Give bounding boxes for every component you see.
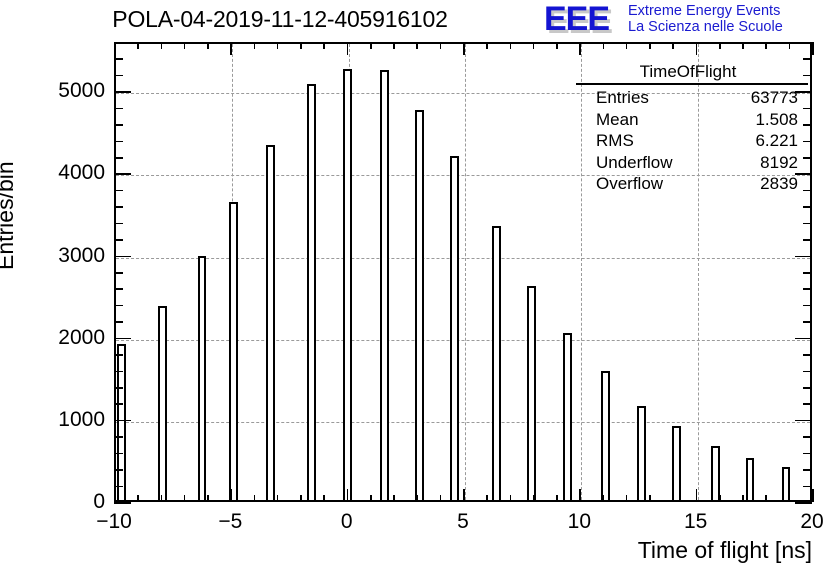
y-axis-minor-tick-right xyxy=(803,206,812,208)
gridline-vertical xyxy=(465,44,466,500)
x-axis-minor-tick-top xyxy=(510,42,512,49)
x-axis-major-tick-top xyxy=(696,42,698,55)
x-axis-minor-tick xyxy=(765,495,767,502)
x-axis-minor-tick-top xyxy=(184,42,186,49)
y-axis-major-tick xyxy=(114,173,131,175)
eee-logo-line2: La Scienza nelle Scuole xyxy=(628,20,783,35)
y-axis-major-tick-right xyxy=(795,420,812,422)
y-axis-title: Entries/bin xyxy=(0,161,19,270)
x-axis-major-tick xyxy=(230,489,232,502)
gridline-horizontal xyxy=(116,340,810,341)
stats-row-value: 63773 xyxy=(751,87,798,109)
y-axis-minor-tick xyxy=(114,124,123,126)
x-axis-minor-tick-top xyxy=(440,42,442,49)
y-axis-minor-tick xyxy=(114,272,123,274)
y-axis-minor-tick-right xyxy=(803,42,812,44)
y-axis-minor-tick-right xyxy=(803,354,812,356)
x-axis-major-tick xyxy=(579,489,581,502)
x-axis-minor-tick xyxy=(137,495,139,502)
histogram-bar xyxy=(746,458,755,500)
x-axis-minor-tick xyxy=(789,495,791,502)
x-axis-minor-tick-top xyxy=(393,42,395,49)
x-axis-minor-tick xyxy=(533,495,535,502)
histogram-bar xyxy=(672,426,681,500)
y-axis-tick-label: 3000 xyxy=(34,244,105,268)
x-axis-minor-tick-top xyxy=(254,42,256,49)
x-axis-minor-tick xyxy=(254,495,256,502)
x-axis-minor-tick-top xyxy=(300,42,302,49)
x-axis-tick-label: 5 xyxy=(457,510,469,534)
x-axis-major-tick xyxy=(114,489,116,502)
y-axis-major-tick-right xyxy=(795,256,812,258)
x-axis-minor-tick-top xyxy=(649,42,651,49)
y-axis-minor-tick xyxy=(114,141,123,143)
x-axis-minor-tick-top xyxy=(416,42,418,49)
y-axis-major-tick xyxy=(114,502,131,504)
y-axis-minor-tick-right xyxy=(803,371,812,373)
x-axis-tick-label: 20 xyxy=(800,510,823,534)
y-axis-minor-tick-right xyxy=(803,239,812,241)
y-axis-minor-tick xyxy=(114,42,123,44)
eee-logo: EEE Extreme Energy Events La Scienza nel… xyxy=(544,4,834,38)
y-axis-minor-tick xyxy=(114,288,123,290)
y-axis-minor-tick xyxy=(114,453,123,455)
x-axis-minor-tick-top xyxy=(533,42,535,49)
y-axis-minor-tick xyxy=(114,469,123,471)
x-axis-minor-tick xyxy=(556,495,558,502)
y-axis-tick-label: 2000 xyxy=(34,326,105,350)
x-axis-minor-tick-top xyxy=(486,42,488,49)
histogram-bar xyxy=(198,256,207,500)
x-axis-minor-tick-top xyxy=(789,42,791,49)
stats-row-value: 1.508 xyxy=(755,109,798,131)
x-axis-major-tick-top xyxy=(347,42,349,55)
x-axis-minor-tick xyxy=(393,495,395,502)
y-axis-minor-tick-right xyxy=(803,223,812,225)
x-axis-minor-tick xyxy=(510,495,512,502)
x-axis-minor-tick-top xyxy=(323,42,325,49)
stats-row: RMS6.221 xyxy=(576,130,808,152)
x-axis-tick-label: 10 xyxy=(568,510,591,534)
y-axis-minor-tick-right xyxy=(803,58,812,60)
x-axis-minor-tick-top xyxy=(603,42,605,49)
y-axis-minor-tick xyxy=(114,403,123,405)
histogram-bar xyxy=(637,406,646,500)
y-axis-minor-tick-right xyxy=(803,436,812,438)
y-axis-minor-tick-right xyxy=(803,387,812,389)
histogram-bar xyxy=(601,371,610,500)
x-axis-minor-tick xyxy=(649,495,651,502)
y-axis-minor-tick xyxy=(114,321,123,323)
y-axis-minor-tick xyxy=(114,75,123,77)
y-axis-minor-tick xyxy=(114,436,123,438)
histogram-bar xyxy=(380,70,389,500)
histogram-bar xyxy=(158,306,167,500)
y-axis-minor-tick xyxy=(114,190,123,192)
y-axis-minor-tick xyxy=(114,223,123,225)
x-axis-major-tick-top xyxy=(230,42,232,55)
x-axis-minor-tick-top xyxy=(137,42,139,49)
y-axis-major-tick xyxy=(114,91,131,93)
stats-row-label: RMS xyxy=(596,130,634,152)
y-axis-major-tick-right xyxy=(795,338,812,340)
stats-row: Mean1.508 xyxy=(576,109,808,131)
x-axis-major-tick-top xyxy=(812,42,814,55)
histogram-bar xyxy=(307,84,316,500)
y-axis-minor-tick-right xyxy=(803,321,812,323)
stats-row-value: 2839 xyxy=(760,173,798,195)
y-axis-major-tick xyxy=(114,420,131,422)
y-axis-minor-tick xyxy=(114,58,123,60)
stats-row-label: Mean xyxy=(596,109,639,131)
x-axis-minor-tick xyxy=(184,495,186,502)
x-axis-minor-tick xyxy=(486,495,488,502)
x-axis-minor-tick-top xyxy=(719,42,721,49)
y-axis-minor-tick-right xyxy=(803,469,812,471)
x-axis-tick-label: 15 xyxy=(684,510,707,534)
histogram-bar xyxy=(492,226,501,500)
y-axis-minor-tick xyxy=(114,371,123,373)
y-axis-major-tick xyxy=(114,256,131,258)
x-axis-tick-label: −5 xyxy=(218,510,242,534)
x-axis-minor-tick-top xyxy=(556,42,558,49)
x-axis-minor-tick-top xyxy=(742,42,744,49)
histogram-bar xyxy=(117,344,126,500)
histogram-bar xyxy=(563,333,572,500)
x-axis-minor-tick xyxy=(277,495,279,502)
histogram-bar xyxy=(229,202,238,500)
x-axis-minor-tick-top xyxy=(277,42,279,49)
y-axis-tick-label: 0 xyxy=(34,490,105,514)
histogram-bar xyxy=(711,446,720,500)
y-axis-minor-tick-right xyxy=(803,403,812,405)
x-axis-tick-label: 0 xyxy=(341,510,353,534)
histogram-bar xyxy=(415,110,424,500)
x-axis-minor-tick xyxy=(719,495,721,502)
y-axis-minor-tick xyxy=(114,387,123,389)
y-axis-minor-tick xyxy=(114,486,123,488)
y-axis-minor-tick xyxy=(114,206,123,208)
y-axis-minor-tick xyxy=(114,239,123,241)
x-axis-major-tick xyxy=(463,489,465,502)
stats-box: TimeOfFlight Entries63773Mean1.508RMS6.2… xyxy=(576,62,808,195)
x-axis-minor-tick-top xyxy=(207,42,209,49)
eee-logo-line1: Extreme Energy Events xyxy=(628,4,780,19)
x-axis-minor-tick-top xyxy=(765,42,767,49)
x-axis-minor-tick-top xyxy=(672,42,674,49)
x-axis-minor-tick xyxy=(440,495,442,502)
stats-row: Overflow2839 xyxy=(576,173,808,195)
x-axis-minor-tick xyxy=(626,495,628,502)
y-axis-minor-tick xyxy=(114,157,123,159)
stats-title: TimeOfFlight xyxy=(576,62,808,85)
y-axis-minor-tick-right xyxy=(803,486,812,488)
y-axis-minor-tick xyxy=(114,108,123,110)
x-axis-minor-tick xyxy=(370,495,372,502)
y-axis-minor-tick-right xyxy=(803,305,812,307)
stats-row-label: Overflow xyxy=(596,173,663,195)
stats-row: Entries63773 xyxy=(576,87,808,109)
x-axis-minor-tick xyxy=(207,495,209,502)
x-axis-major-tick xyxy=(696,489,698,502)
histogram-bar xyxy=(527,286,536,500)
x-axis-minor-tick xyxy=(672,495,674,502)
x-axis-minor-tick xyxy=(323,495,325,502)
x-axis-major-tick xyxy=(812,489,814,502)
histogram-bar xyxy=(266,145,275,500)
x-axis-minor-tick xyxy=(603,495,605,502)
y-axis-tick-label: 5000 xyxy=(34,79,105,103)
gridline-horizontal xyxy=(116,258,810,259)
y-axis-major-tick xyxy=(114,338,131,340)
histogram-bar xyxy=(343,69,352,500)
y-axis-minor-tick xyxy=(114,354,123,356)
x-axis-minor-tick-top xyxy=(161,42,163,49)
x-axis-minor-tick xyxy=(416,495,418,502)
histogram-canvas: POLA-04-2019-11-12-405916102 EEE Extreme… xyxy=(0,0,836,572)
x-axis-minor-tick xyxy=(161,495,163,502)
x-axis-minor-tick-top xyxy=(370,42,372,49)
x-axis-minor-tick xyxy=(300,495,302,502)
gridline-horizontal xyxy=(116,422,810,423)
histogram-bar xyxy=(450,156,459,500)
stats-row-value: 8192 xyxy=(760,152,798,174)
x-axis-major-tick xyxy=(347,489,349,502)
stats-row: Underflow8192 xyxy=(576,152,808,174)
y-axis-minor-tick xyxy=(114,305,123,307)
stats-row-label: Underflow xyxy=(596,152,673,174)
page-title: POLA-04-2019-11-12-405916102 xyxy=(0,6,560,33)
y-axis-minor-tick-right xyxy=(803,453,812,455)
x-axis-major-tick-top xyxy=(579,42,581,55)
x-axis-tick-label: −10 xyxy=(96,510,132,534)
y-axis-tick-label: 1000 xyxy=(34,408,105,432)
stats-rows: Entries63773Mean1.508RMS6.221Underflow81… xyxy=(576,87,808,195)
eee-logo-mark: EEE xyxy=(544,2,609,36)
y-axis-tick-label: 4000 xyxy=(34,161,105,185)
x-axis-title: Time of flight [ns] xyxy=(638,537,812,564)
x-axis-minor-tick xyxy=(742,495,744,502)
y-axis-major-tick-right xyxy=(795,502,812,504)
stats-row-value: 6.221 xyxy=(755,130,798,152)
x-axis-major-tick-top xyxy=(114,42,116,55)
x-axis-major-tick-top xyxy=(463,42,465,55)
stats-row-label: Entries xyxy=(596,87,649,109)
y-axis-minor-tick-right xyxy=(803,272,812,274)
y-axis-minor-tick-right xyxy=(803,288,812,290)
x-axis-minor-tick-top xyxy=(626,42,628,49)
